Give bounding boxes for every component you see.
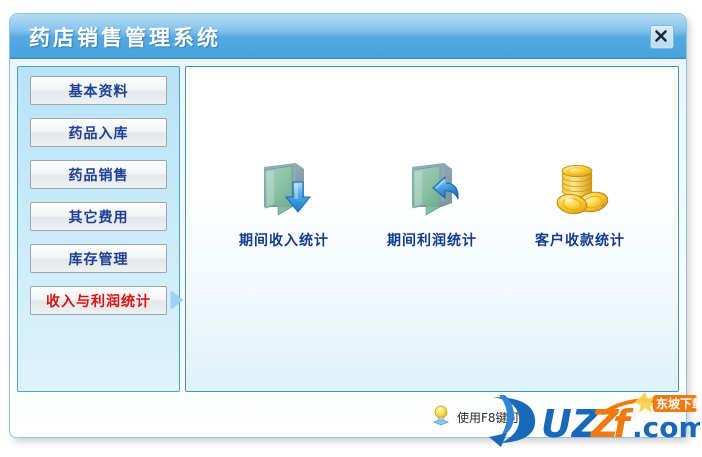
- sidebar-item-drug-inbound[interactable]: 药品入库: [30, 118, 167, 147]
- tile-period-profit-stats[interactable]: 期间利润统计: [367, 159, 497, 250]
- status-bar: 使用F8键可以: [17, 396, 679, 438]
- sidebar-item-basic-info[interactable]: 基本资料: [30, 76, 167, 105]
- sidebar-item-income-profit-stats[interactable]: 收入与利润统计: [30, 286, 167, 315]
- application-window: 药店销售管理系统 基本资料 药品入库 药品销售 其它费用: [9, 13, 687, 438]
- lightbulb-icon: [430, 404, 452, 431]
- sidebar: 基本资料 药品入库 药品销售 其它费用 库存管理 收入与利润统计: [17, 66, 180, 392]
- gold-coins-icon: [548, 159, 612, 221]
- tile-caption: 客户收款统计: [535, 230, 625, 250]
- sidebar-item-label: 药品销售: [69, 165, 129, 185]
- sidebar-item-label: 基本资料: [69, 81, 129, 101]
- close-button[interactable]: [650, 25, 674, 49]
- status-hint-text: 使用F8键可以: [457, 409, 532, 426]
- panes: 基本资料 药品入库 药品销售 其它费用 库存管理 收入与利润统计: [17, 66, 679, 392]
- window-title: 药店销售管理系统: [29, 22, 221, 52]
- sidebar-item-label: 收入与利润统计: [46, 291, 151, 311]
- close-icon: [651, 26, 671, 46]
- tile-period-income-stats[interactable]: 期间收入统计: [219, 159, 349, 250]
- folder-download-icon: [252, 159, 316, 221]
- content-pane: 期间收入统计: [185, 66, 679, 392]
- folder-back-arrow-icon: [400, 159, 464, 221]
- sidebar-item-label: 其它费用: [69, 207, 129, 227]
- tile-customer-receipts-stats[interactable]: 客户收款统计: [515, 159, 645, 250]
- sidebar-item-label: 药品入库: [69, 123, 129, 143]
- icon-grid: 期间收入统计: [186, 159, 678, 250]
- sidebar-item-other-expenses[interactable]: 其它费用: [30, 202, 167, 231]
- tile-caption: 期间利润统计: [387, 230, 477, 250]
- status-hint: 使用F8键可以: [430, 404, 532, 431]
- title-bar: 药店销售管理系统: [10, 14, 686, 59]
- sidebar-item-label: 库存管理: [69, 249, 129, 269]
- sidebar-item-drug-sales[interactable]: 药品销售: [30, 160, 167, 189]
- sidebar-item-inventory[interactable]: 库存管理: [30, 244, 167, 273]
- tile-caption: 期间收入统计: [239, 230, 329, 250]
- window-body: 基本资料 药品入库 药品销售 其它费用 库存管理 收入与利润统计: [10, 59, 686, 438]
- chevron-right-icon: [171, 291, 183, 309]
